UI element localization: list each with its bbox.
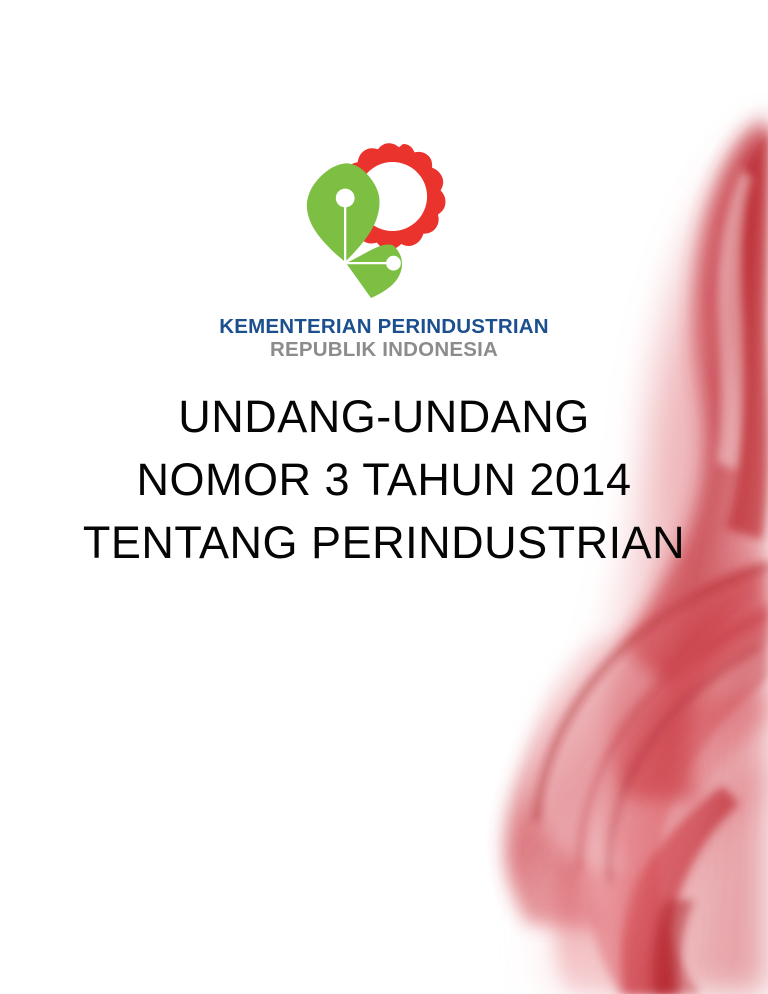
kementerian-perindustrian-logo-icon (293, 140, 475, 308)
title-line-tentang-perindustrian: TENTANG PERINDUSTRIAN (0, 520, 768, 565)
ministry-logo-block: KEMENTERIAN PERINDUSTRIAN REPUBLIK INDON… (0, 140, 768, 360)
title-line-undang-undang: UNDANG-UNDANG (0, 394, 768, 439)
ministry-name-text: KEMENTERIAN PERINDUSTRIAN (0, 316, 768, 338)
title-line-nomor-tahun: NOMOR 3 TAHUN 2014 (0, 457, 768, 502)
document-cover-page: KEMENTERIAN PERINDUSTRIAN REPUBLIK INDON… (0, 0, 768, 994)
document-title-block: UNDANG-UNDANG NOMOR 3 TAHUN 2014 TENTANG… (0, 394, 768, 565)
republic-name-text: REPUBLIK INDONESIA (0, 339, 768, 361)
green-leaf-large-icon (307, 163, 380, 262)
